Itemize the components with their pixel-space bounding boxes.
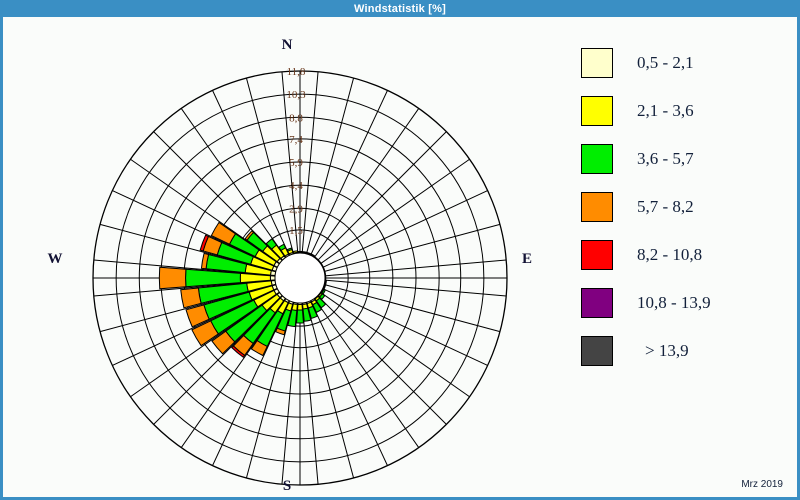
legend-color-swatch [581,288,613,318]
grid-spoke [306,78,353,254]
grid-spoke [324,224,500,271]
radial-tick-label: 4,4 [289,180,303,192]
grid-spoke [323,191,488,268]
legend-color-swatch [581,48,613,78]
wind-rose-svg[interactable]: 1,52,94,45,97,48,810,311,8 [3,17,563,497]
legend-color-swatch [581,144,613,174]
legend-item-label: 2,1 - 3,6 [637,101,694,121]
grid-spoke [320,159,469,263]
grid-spoke [314,108,418,257]
legend-item-label: 3,6 - 5,7 [637,149,694,169]
speed-class-legend: 0,5 - 2,12,1 - 3,63,6 - 5,75,7 - 8,28,2 … [581,39,791,375]
compass-label-north: N [267,37,307,54]
wind-rose-segment[interactable] [297,310,304,323]
legend-item[interactable]: 5,7 - 8,2 [581,183,791,231]
calm-center-circle [275,253,325,303]
legend-item-label: 8,2 - 10,8 [637,245,702,265]
grid-spoke [318,296,447,425]
legend-item-label: 0,5 - 2,1 [637,53,694,73]
legend-item[interactable]: > 13,9 [581,327,791,375]
wind-rose-segment[interactable] [159,267,186,289]
radial-tick-label: 11,8 [287,66,306,78]
radial-tick-label: 5,9 [289,157,303,169]
grid-spoke [324,284,500,331]
legend-item[interactable]: 2,1 - 3,6 [581,87,791,135]
window-client-area: 1,52,94,45,97,48,810,311,8 N E S W 0,5 -… [3,17,797,497]
wind-rose-segment[interactable] [298,251,302,252]
grid-spoke [314,298,418,447]
radial-tick-label: 2,9 [289,203,303,215]
window-title: Windstatistik [%] [354,3,446,15]
radial-tick-label: 7,4 [289,134,303,146]
compass-label-west: W [35,251,75,268]
grid-spoke [246,78,293,254]
grid-spoke [311,301,388,466]
legend-color-swatch [581,336,613,366]
legend-item[interactable]: 8,2 - 10,8 [581,231,791,279]
wind-rose-segment[interactable] [298,304,303,309]
legend-item[interactable]: 3,6 - 5,7 [581,135,791,183]
legend-color-swatch [581,96,613,126]
legend-item-label: 10,8 - 13,9 [637,293,711,313]
grid-spoke [318,132,447,261]
compass-label-south: S [267,478,307,495]
legend-color-swatch [581,192,613,222]
calm-circle [275,253,325,303]
wind-statistics-window: Windstatistik [%] 1,52,94,45,97,48,810,3… [0,0,800,500]
legend-item[interactable]: 10,8 - 13,9 [581,279,791,327]
wind-rose-segment[interactable] [270,276,275,281]
wind-rose-plot: 1,52,94,45,97,48,810,311,8 N E S W [3,17,563,497]
grid-spoke [306,302,353,478]
period-label: Mrz 2019 [741,479,783,490]
radial-tick-label: 10,3 [286,89,306,101]
legend-item-label: 5,7 - 8,2 [637,197,694,217]
window-titlebar: Windstatistik [%] [0,0,800,17]
legend-item-label: > 13,9 [645,341,689,361]
legend-item[interactable]: 0,5 - 2,1 [581,39,791,87]
radial-tick-label: 1,5 [289,225,303,237]
grid-spoke [323,289,488,366]
legend-color-swatch [581,240,613,270]
compass-label-east: E [507,251,547,268]
grid-spoke [112,191,277,268]
grid-spoke [320,292,469,396]
radial-tick-label: 8,8 [289,112,303,124]
grid-spoke [311,90,388,255]
